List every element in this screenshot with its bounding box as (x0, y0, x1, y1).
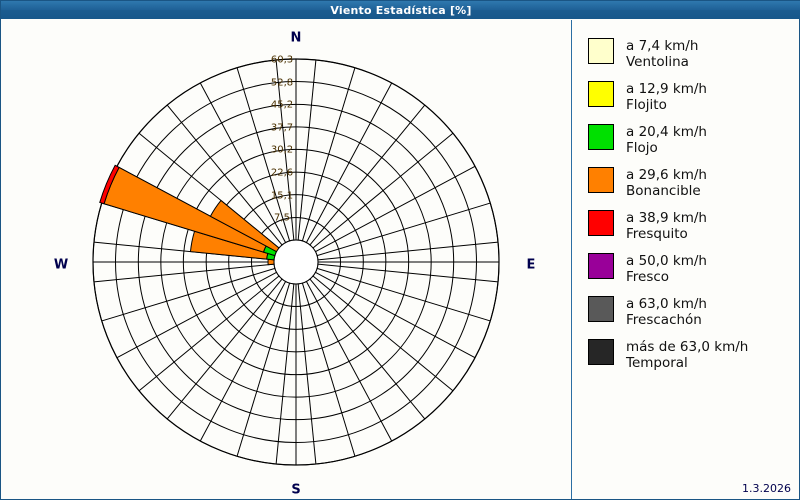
legend-speed-label: a 38,9 km/h (626, 210, 707, 226)
legend-label-group: más de 63,0 km/hTemporal (626, 339, 748, 371)
legend-speed-label: a 63,0 km/h (626, 296, 707, 312)
grid-spoke (318, 264, 498, 282)
legend-name-label: Ventolina (626, 54, 698, 70)
legend-color-swatch (588, 296, 614, 322)
legend-name-label: Temporal (626, 355, 748, 371)
grid-spoke (298, 60, 316, 240)
compass-label-w: W (54, 258, 68, 273)
legend-color-swatch (588, 167, 614, 193)
radial-tick-label: 7,5 (274, 213, 290, 224)
legend-color-swatch (588, 339, 614, 365)
legend-color-swatch (588, 210, 614, 236)
legend-item[interactable]: a 7,4 km/hVentolina (588, 38, 799, 70)
legend-item[interactable]: a 29,6 km/hBonancible (588, 167, 799, 199)
legend-name-label: Fresco (626, 269, 707, 285)
grid-spoke (302, 283, 355, 456)
radial-tick-label: 60,3 (271, 55, 293, 66)
grid-spoke (318, 242, 498, 260)
grid-spoke (317, 203, 490, 256)
legend-color-swatch (588, 253, 614, 279)
date-stamp: 1.3.2026 (742, 482, 791, 495)
radial-tick-label: 52,8 (271, 77, 293, 88)
wind-rose-plot: NESW 7,515,122,630,237,745,252,860,3 (2, 20, 568, 499)
grid-spoke (102, 268, 275, 321)
legend-label-group: a 50,0 km/hFresco (626, 253, 707, 285)
radial-tick-label: 15,1 (271, 190, 293, 201)
legend-speed-label: a 12,9 km/h (626, 81, 707, 97)
legend-color-swatch (588, 38, 614, 64)
grid-overlay (274, 240, 318, 284)
window-title-bar: Viento Estadística [%] (1, 1, 800, 19)
legend-item[interactable]: a 50,0 km/hFresco (588, 253, 799, 285)
legend-panel: a 7,4 km/hVentolinaa 12,9 km/hFlojitoa 2… (571, 20, 799, 499)
legend-label-group: a 12,9 km/hFlojito (626, 81, 707, 113)
legend-name-label: Flojito (626, 97, 707, 113)
legend-item[interactable]: más de 63,0 km/hTemporal (588, 339, 799, 371)
legend-speed-label: a 20,4 km/h (626, 124, 707, 140)
radial-tick-label: 30,2 (271, 145, 293, 156)
grid-spoke (298, 284, 316, 464)
legend-name-label: Fresquito (626, 226, 707, 242)
window-title: Viento Estadística [%] (330, 4, 471, 17)
legend-item[interactable]: a 38,9 km/hFresquito (588, 210, 799, 242)
legend-item[interactable]: a 63,0 km/hFrescachón (588, 296, 799, 328)
grid-spoke (317, 268, 490, 321)
legend-name-label: Frescachón (626, 312, 707, 328)
wind-petal-segment (104, 167, 266, 252)
legend-name-label: Bonancible (626, 183, 707, 199)
legend-label-group: a 20,4 km/hFlojo (626, 124, 707, 156)
compass-label-s: S (291, 483, 300, 498)
legend-name-label: Flojo (626, 140, 707, 156)
legend-color-swatch (588, 124, 614, 150)
compass-label-n: N (291, 31, 302, 46)
grid-spoke (302, 68, 355, 241)
radial-tick-label: 45,2 (271, 100, 293, 111)
legend-label-group: a 29,6 km/hBonancible (626, 167, 707, 199)
legend-label-group: a 63,0 km/hFrescachón (626, 296, 707, 328)
grid-spoke (276, 284, 294, 464)
legend-color-swatch (588, 81, 614, 107)
legend-item[interactable]: a 12,9 km/hFlojito (588, 81, 799, 113)
wind-rose-svg (2, 20, 568, 499)
legend-label-group: a 7,4 km/hVentolina (626, 38, 698, 70)
compass-label-e: E (527, 258, 536, 273)
legend-item[interactable]: a 20,4 km/hFlojo (588, 124, 799, 156)
center-hole-overlay (274, 240, 318, 284)
legend-speed-label: a 29,6 km/h (626, 167, 707, 183)
legend-label-group: a 38,9 km/hFresquito (626, 210, 707, 242)
grid-spoke (94, 264, 274, 282)
wind-rose-window: Viento Estadística [%] NESW 7,515,122,63… (0, 0, 800, 500)
legend-speed-label: más de 63,0 km/h (626, 339, 748, 355)
radial-tick-label: 22,6 (271, 168, 293, 179)
legend-speed-label: a 50,0 km/h (626, 253, 707, 269)
grid-spoke (237, 283, 290, 456)
radial-tick-label: 37,7 (271, 122, 293, 133)
legend-speed-label: a 7,4 km/h (626, 38, 698, 54)
